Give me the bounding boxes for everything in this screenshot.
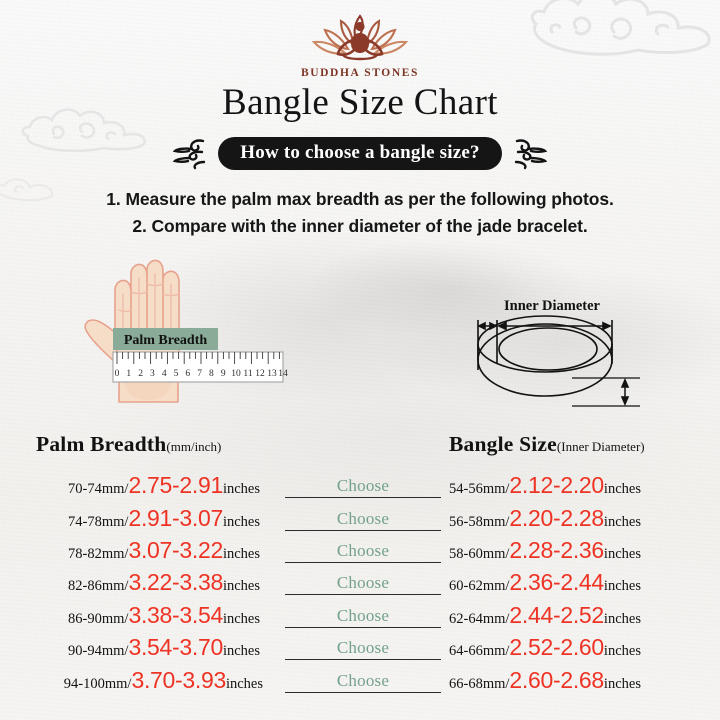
page-title: Bangle Size Chart: [0, 81, 720, 124]
instruction-line-2: 2. Compare with the inner diameter of th…: [0, 213, 720, 240]
bangle-unit-label: inches: [604, 578, 641, 595]
choose-size-field[interactable]: Choose: [285, 604, 441, 628]
bangle-size-cell: 60-62mm/2.36-2.44inches: [449, 571, 641, 595]
svg-text:12: 12: [255, 369, 265, 379]
palm-breadth-cell: 78-82mm/3.07-3.22inches: [68, 539, 260, 563]
svg-text:4: 4: [162, 369, 167, 379]
bangle-header-sub: (Inner Diameter): [557, 439, 645, 454]
svg-text:5: 5: [174, 369, 179, 379]
palm-mm-value: 86-90mm/: [68, 611, 128, 628]
bangle-size-column-header: Bangle Size(Inner Diameter): [449, 432, 645, 457]
palm-breadth-cell: 74-78mm/2.91-3.07inches: [68, 507, 260, 531]
cloud-scroll-icon: [511, 136, 547, 170]
bangle-ring-icon: [452, 292, 652, 418]
palm-inch-value: 3.54-3.70: [128, 636, 223, 659]
svg-text:7: 7: [197, 369, 202, 379]
bangle-inch-value: 2.44-2.52: [509, 604, 604, 627]
choose-size-field[interactable]: Choose: [285, 507, 441, 531]
palm-breadth-column-header: Palm Breadth(mm/inch): [36, 432, 221, 457]
open-palm-hand-icon: Palm Breadth 012 345 678 91011 121314: [62, 250, 292, 420]
bangle-mm-value: 56-58mm/: [449, 514, 509, 531]
palm-mm-value: 78-82mm/: [68, 546, 128, 563]
palm-breadth-cell: 90-94mm/3.54-3.70inches: [68, 636, 260, 660]
palm-inch-value: 2.91-3.07: [128, 507, 223, 530]
bangle-size-cell: 54-56mm/2.12-2.20inches: [449, 474, 641, 498]
table-row: 70-74mm/2.75-2.91inchesChoose54-56mm/2.1…: [0, 470, 720, 502]
table-headers: Palm Breadth(mm/inch) Bangle Size(Inner …: [0, 432, 720, 462]
bangle-inch-value: 2.28-2.36: [509, 539, 604, 562]
bangle-header-main: Bangle Size: [449, 432, 557, 456]
bangle-size-cell: 64-66mm/2.52-2.60inches: [449, 636, 641, 660]
ruler-icon: 012 345 678 91011 121314: [113, 352, 288, 382]
instructions: 1. Measure the palm max breadth as per t…: [0, 186, 720, 240]
choose-size-field[interactable]: Choose: [285, 669, 441, 693]
choose-label: Choose: [337, 509, 389, 529]
svg-text:10: 10: [231, 369, 241, 379]
palm-unit-label: inches: [223, 578, 260, 595]
svg-text:1: 1: [126, 369, 131, 379]
bangle-size-cell: 62-64mm/2.44-2.52inches: [449, 604, 641, 628]
palm-unit-label: inches: [223, 643, 260, 660]
palm-breadth-cell: 94-100mm/3.70-3.93inches: [64, 669, 263, 693]
svg-text:9: 9: [221, 369, 226, 379]
palm-inch-value: 3.22-3.38: [128, 571, 223, 594]
bangle-inch-value: 2.52-2.60: [509, 636, 604, 659]
bangle-mm-value: 54-56mm/: [449, 481, 509, 498]
bangle-mm-value: 64-66mm/: [449, 643, 509, 660]
bangle-unit-label: inches: [604, 676, 641, 693]
table-row: 94-100mm/3.70-3.93inchesChoose66-68mm/2.…: [0, 664, 720, 696]
bangle-inch-value: 2.36-2.44: [509, 571, 604, 594]
choose-size-field[interactable]: Choose: [285, 571, 441, 595]
table-row: 82-86mm/3.22-3.38inchesChoose60-62mm/2.3…: [0, 567, 720, 599]
lotus-meditation-icon: [308, 8, 412, 66]
bangle-inch-value: 2.20-2.28: [509, 507, 604, 530]
table-row: 86-90mm/3.38-3.54inchesChoose62-64mm/2.4…: [0, 600, 720, 632]
svg-text:8: 8: [209, 369, 214, 379]
bangle-mm-value: 62-64mm/: [449, 611, 509, 628]
palm-unit-label: inches: [223, 481, 260, 498]
bangle-size-cell: 56-58mm/2.20-2.28inches: [449, 507, 641, 531]
palm-inch-value: 3.70-3.93: [131, 669, 226, 692]
choose-label: Choose: [337, 573, 389, 593]
choose-label: Choose: [337, 638, 389, 658]
palm-breadth-band-label: Palm Breadth: [124, 333, 208, 348]
palm-inch-value: 2.75-2.91: [128, 474, 223, 497]
svg-text:0: 0: [115, 369, 120, 379]
palm-header-sub: (mm/inch): [166, 439, 221, 454]
size-table-rows: 70-74mm/2.75-2.91inchesChoose54-56mm/2.1…: [0, 470, 720, 697]
bangle-mm-value: 66-68mm/: [449, 676, 509, 693]
bangle-size-cell: 58-60mm/2.28-2.36inches: [449, 539, 641, 563]
table-row: 74-78mm/2.91-3.07inchesChoose56-58mm/2.2…: [0, 502, 720, 534]
palm-mm-value: 70-74mm/: [68, 481, 128, 498]
bangle-inch-value: 2.60-2.68: [509, 669, 604, 692]
choose-size-field[interactable]: Choose: [285, 474, 441, 498]
palm-mm-value: 90-94mm/: [68, 643, 128, 660]
brand-name: BUDDHA STONES: [0, 67, 720, 79]
subtitle-banner: How to choose a bangle size?: [218, 137, 501, 170]
choose-label: Choose: [337, 671, 389, 691]
palm-unit-label: inches: [223, 514, 260, 531]
choose-size-field[interactable]: Choose: [285, 539, 441, 563]
choose-size-field[interactable]: Choose: [285, 636, 441, 660]
bangle-unit-label: inches: [604, 546, 641, 563]
table-row: 78-82mm/3.07-3.22inchesChoose58-60mm/2.2…: [0, 535, 720, 567]
bangle-unit-label: inches: [604, 643, 641, 660]
bangle-mm-value: 58-60mm/: [449, 546, 509, 563]
choose-label: Choose: [337, 606, 389, 626]
bangle-inch-value: 2.12-2.20: [509, 474, 604, 497]
svg-text:13: 13: [267, 369, 277, 379]
palm-unit-label: inches: [223, 546, 260, 563]
bangle-size-cell: 66-68mm/2.60-2.68inches: [449, 669, 641, 693]
cloud-scroll-icon: [173, 136, 209, 170]
choose-label: Choose: [337, 541, 389, 561]
palm-inch-value: 3.38-3.54: [128, 604, 223, 627]
palm-breadth-cell: 86-90mm/3.38-3.54inches: [68, 604, 260, 628]
palm-mm-value: 74-78mm/: [68, 514, 128, 531]
choose-label: Choose: [337, 476, 389, 496]
palm-mm-value: 82-86mm/: [68, 578, 128, 595]
size-chart-page: BUDDHA STONES Bangle Size Chart How to c…: [0, 0, 720, 720]
palm-breadth-cell: 82-86mm/3.22-3.38inches: [68, 571, 260, 595]
subtitle-row: How to choose a bangle size?: [0, 136, 720, 170]
svg-text:3: 3: [150, 369, 155, 379]
bangle-unit-label: inches: [604, 514, 641, 531]
palm-breadth-cell: 70-74mm/2.75-2.91inches: [68, 474, 260, 498]
bangle-unit-label: inches: [604, 611, 641, 628]
svg-text:11: 11: [243, 369, 252, 379]
palm-mm-value: 94-100mm/: [64, 676, 132, 693]
svg-text:6: 6: [185, 369, 190, 379]
bangle-mm-value: 60-62mm/: [449, 578, 509, 595]
palm-header-main: Palm Breadth: [36, 432, 166, 456]
brand-logo: BUDDHA STONES: [0, 8, 720, 79]
svg-text:14: 14: [278, 369, 288, 379]
svg-text:2: 2: [138, 369, 143, 379]
palm-inch-value: 3.07-3.22: [128, 539, 223, 562]
instruction-line-1: 1. Measure the palm max breadth as per t…: [0, 186, 720, 213]
palm-unit-label: inches: [223, 611, 260, 628]
palm-unit-label: inches: [226, 676, 263, 693]
table-row: 90-94mm/3.54-3.70inchesChoose64-66mm/2.5…: [0, 632, 720, 664]
bangle-unit-label: inches: [604, 481, 641, 498]
